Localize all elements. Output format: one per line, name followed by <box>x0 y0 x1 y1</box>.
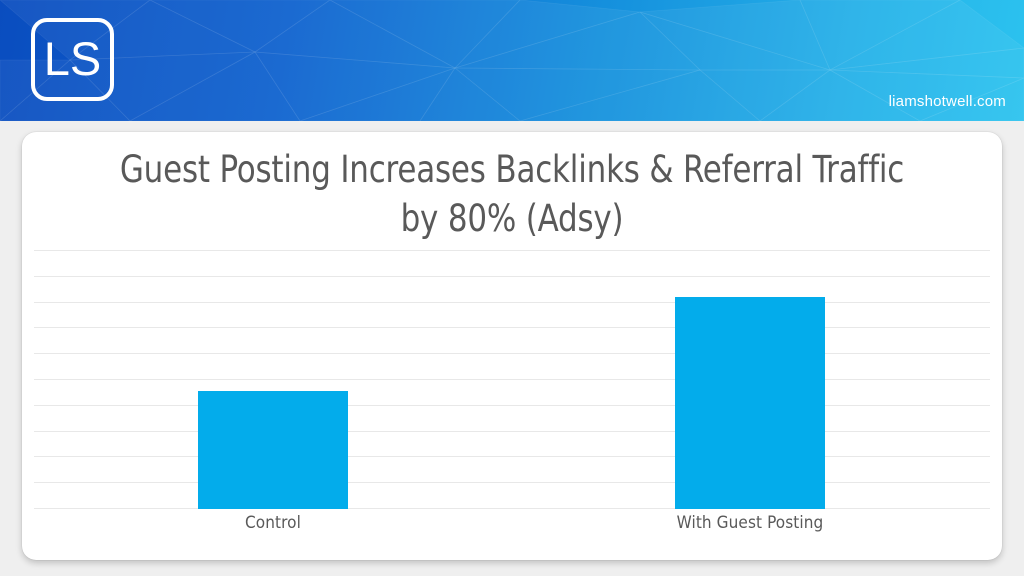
plot-area <box>34 250 990 509</box>
site-url-watermark: liamshotwell.com <box>889 93 1006 110</box>
bar-series <box>34 250 990 509</box>
bar <box>675 297 825 509</box>
x-axis-label: With Guest Posting <box>590 513 910 533</box>
header-banner: LS liamshotwell.com <box>0 0 1024 121</box>
chart-card: Guest Posting Increases Backlinks & Refe… <box>22 132 1002 560</box>
chart-title: Guest Posting Increases Backlinks & Refe… <box>112 146 912 244</box>
logo-initials: LS <box>44 35 102 82</box>
x-axis-labels: ControlWith Guest Posting <box>34 513 990 547</box>
x-axis-label: Control <box>113 513 433 533</box>
bar <box>198 391 348 509</box>
ls-logo: LS <box>31 18 114 101</box>
polygon-pattern-decoration <box>0 0 1024 121</box>
